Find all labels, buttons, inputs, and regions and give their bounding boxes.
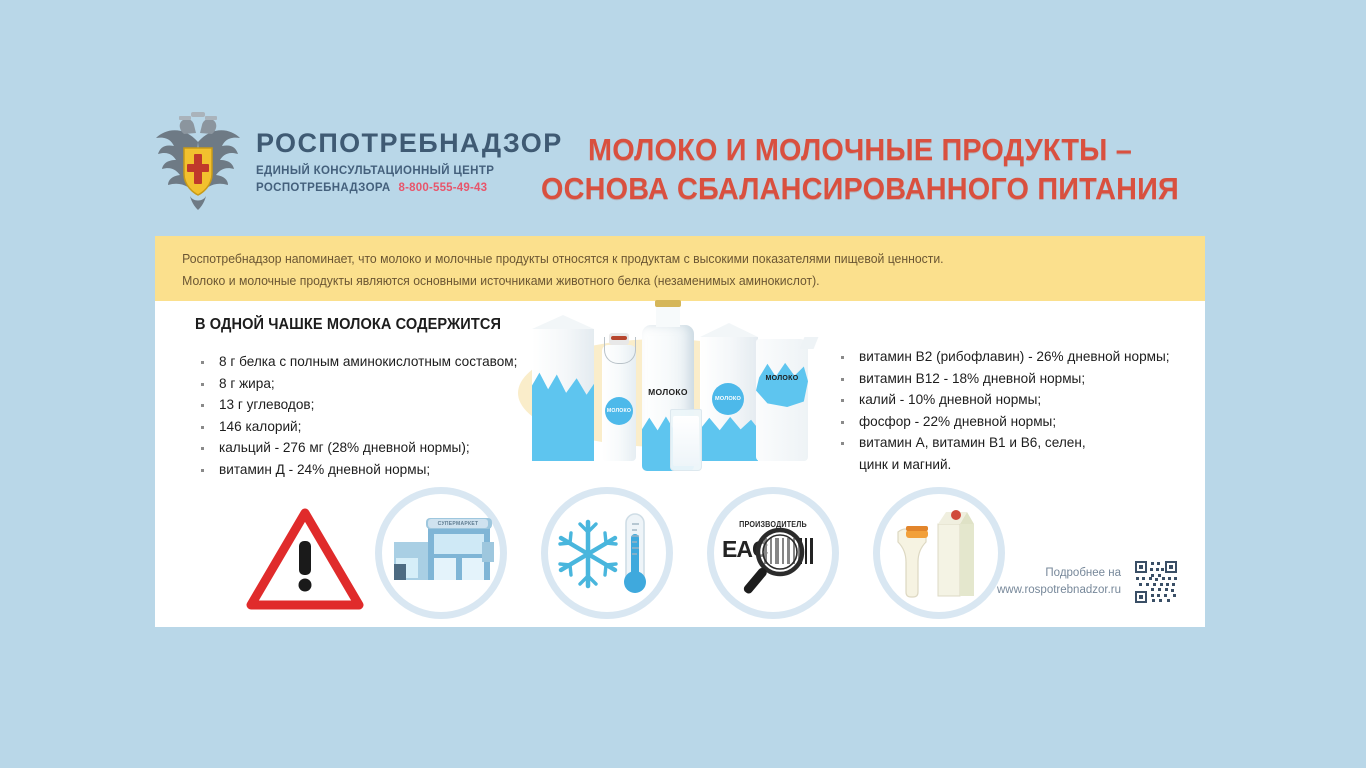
list-item: 8 г белка с полным аминокислотным состав… <box>195 351 517 373</box>
notice-banner-text: Роспотребнадзор напоминает, что молоко и… <box>155 236 1174 292</box>
list-item: 8 г жира; <box>195 373 517 395</box>
milk-jug: МОЛОКО <box>756 339 808 461</box>
more-info-text: Подробнее на www.rospotrebnadzor.ru <box>997 565 1121 598</box>
notice-line-1: Роспотребнадзор напоминает, что молоко и… <box>182 252 943 266</box>
rospotrebnadzor-logo: РОСПОТРЕБНАДЗОР ЕДИНЫЙ КОНСУЛЬТАЦИОННЫЙ … <box>150 112 563 210</box>
bottle-label-circle: МОЛОКО <box>605 397 633 425</box>
jug-label: МОЛОКО <box>756 375 808 382</box>
icon-row: СУПЕРМАРКЕТ <box>155 479 1205 627</box>
brand-name: РОСПОТРЕБНАДЗОР <box>256 130 563 157</box>
list-item: 146 калорий; <box>195 416 517 438</box>
more-info-line1: Подробнее на <box>997 565 1121 582</box>
glass-milk-fill <box>673 416 699 466</box>
carton-gable-top <box>700 323 758 337</box>
carton-milk-splash <box>700 413 758 461</box>
section-title: В ОДНОЙ ЧАШКЕ МОЛОКА СОДЕРЖИТСЯ <box>195 316 501 334</box>
more-info-footer: Подробнее на www.rospotrebnadzor.ru <box>997 559 1179 605</box>
warning-triangle-icon <box>245 507 365 611</box>
list-item: витамин В12 - 18% дневной нормы; <box>835 368 1170 390</box>
bottle-main-label-text: МОЛОКО <box>648 387 688 397</box>
more-info-line2[interactable]: www.rospotrebnadzor.ru <box>997 582 1121 599</box>
poster-header: РОСПОТРЕБНАДЗОР ЕДИНЫЙ КОНСУЛЬТАЦИОННЫЙ … <box>150 112 1210 222</box>
list-item: витамин В2 (рибофлавин) - 26% дневной но… <box>835 346 1170 368</box>
notice-banner: Роспотребнадзор напоминает, что молоко и… <box>155 236 1205 301</box>
brand-subtitle: ЕДИНЫЙ КОНСУЛЬТАЦИОННЫЙ ЦЕНТР РОСПОТРЕБН… <box>256 163 563 196</box>
carton-label-circle: МОЛОКО <box>712 383 744 415</box>
snowflake-thermometer-icon <box>541 487 673 619</box>
milk-swing-top-bottle: МОЛОКО <box>602 345 636 461</box>
milk-packaging-icon <box>873 487 1005 619</box>
consult-center-line2: РОСПОТРЕБНАДЗОРА <box>256 180 391 196</box>
infographic-poster: РОСПОТРЕБНАДЗОР ЕДИНЫЙ КОНСУЛЬТАЦИОННЫЙ … <box>0 0 1366 768</box>
bottle-wire-clasp <box>604 337 636 364</box>
milk-glass <box>670 409 702 471</box>
jug-milk-splash <box>756 361 808 407</box>
list-item: цинк и магний. <box>835 454 1170 476</box>
bottle-gold-cap <box>655 300 681 307</box>
milk-splash <box>532 369 594 461</box>
russian-double-headed-eagle-emblem <box>150 112 246 210</box>
list-item: витамин А, витамин В1 и В6, селен, <box>835 432 1170 454</box>
supermarket-sign-text: СУПЕРМАРКЕТ <box>438 521 479 527</box>
supermarket-building-icon: СУПЕРМАРКЕТ <box>375 487 507 619</box>
brand-text-block: РОСПОТРЕБНАДЗОР ЕДИНЫЙ КОНСУЛЬТАЦИОННЫЙ … <box>256 126 563 196</box>
page-title-line1: МОЛОКО И МОЛОЧНЫЕ ПРОДУКТЫ – <box>535 130 1186 169</box>
qr-code[interactable] <box>1133 559 1179 605</box>
jug-label-text: МОЛОКО <box>766 375 799 382</box>
list-item: витамин Д - 24% дневной нормы; <box>195 459 517 481</box>
milk-carton-large-left <box>532 329 594 461</box>
bottle-main-label: МОЛОКО <box>642 387 694 397</box>
jug-spout <box>800 337 819 349</box>
page-title-line2: ОСНОВА СБАЛАНСИРОВАННОГО ПИТАНИЯ <box>535 169 1186 208</box>
content-card: В ОДНОЙ ЧАШКЕ МОЛОКА СОДЕРЖИТСЯ 8 г белк… <box>155 301 1205 627</box>
milk-products-illustration: МОЛОКО МОЛОКО МОЛОКО <box>510 311 820 476</box>
page-title: МОЛОКО И МОЛОЧНЫЕ ПРОДУКТЫ – ОСНОВА СБАЛ… <box>535 130 1186 208</box>
notice-line-2: Молоко и молочные продукты являются осно… <box>182 274 819 288</box>
carton-label-text: МОЛОКО <box>715 396 741 402</box>
supermarket-sign: СУПЕРМАРКЕТ <box>428 519 488 528</box>
list-item: 13 г углеводов; <box>195 394 517 416</box>
milk-carton-right: МОЛОКО <box>700 337 758 461</box>
manufacturer-barcode-magnifier-icon: ПРОИЗВОДИТЕЛЬ EAC <box>707 487 839 619</box>
consult-center-line: ЕДИНЫЙ КОНСУЛЬТАЦИОННЫЙ ЦЕНТР <box>256 163 563 179</box>
list-item: фосфор - 22% дневной нормы; <box>835 411 1170 433</box>
bottle-neck <box>656 305 680 327</box>
list-item: кальций - 276 мг (28% дневной нормы); <box>195 437 517 459</box>
bottle-label-text: МОЛОКО <box>607 408 631 414</box>
hotline-phone[interactable]: 8-800-555-49-43 <box>399 180 488 196</box>
right-facts-list: витамин В2 (рибофлавин) - 26% дневной но… <box>835 346 1170 476</box>
carton-gable-top <box>532 315 594 329</box>
left-facts-list: 8 г белка с полным аминокислотным состав… <box>195 351 517 481</box>
list-item: калий - 10% дневной нормы; <box>835 389 1170 411</box>
